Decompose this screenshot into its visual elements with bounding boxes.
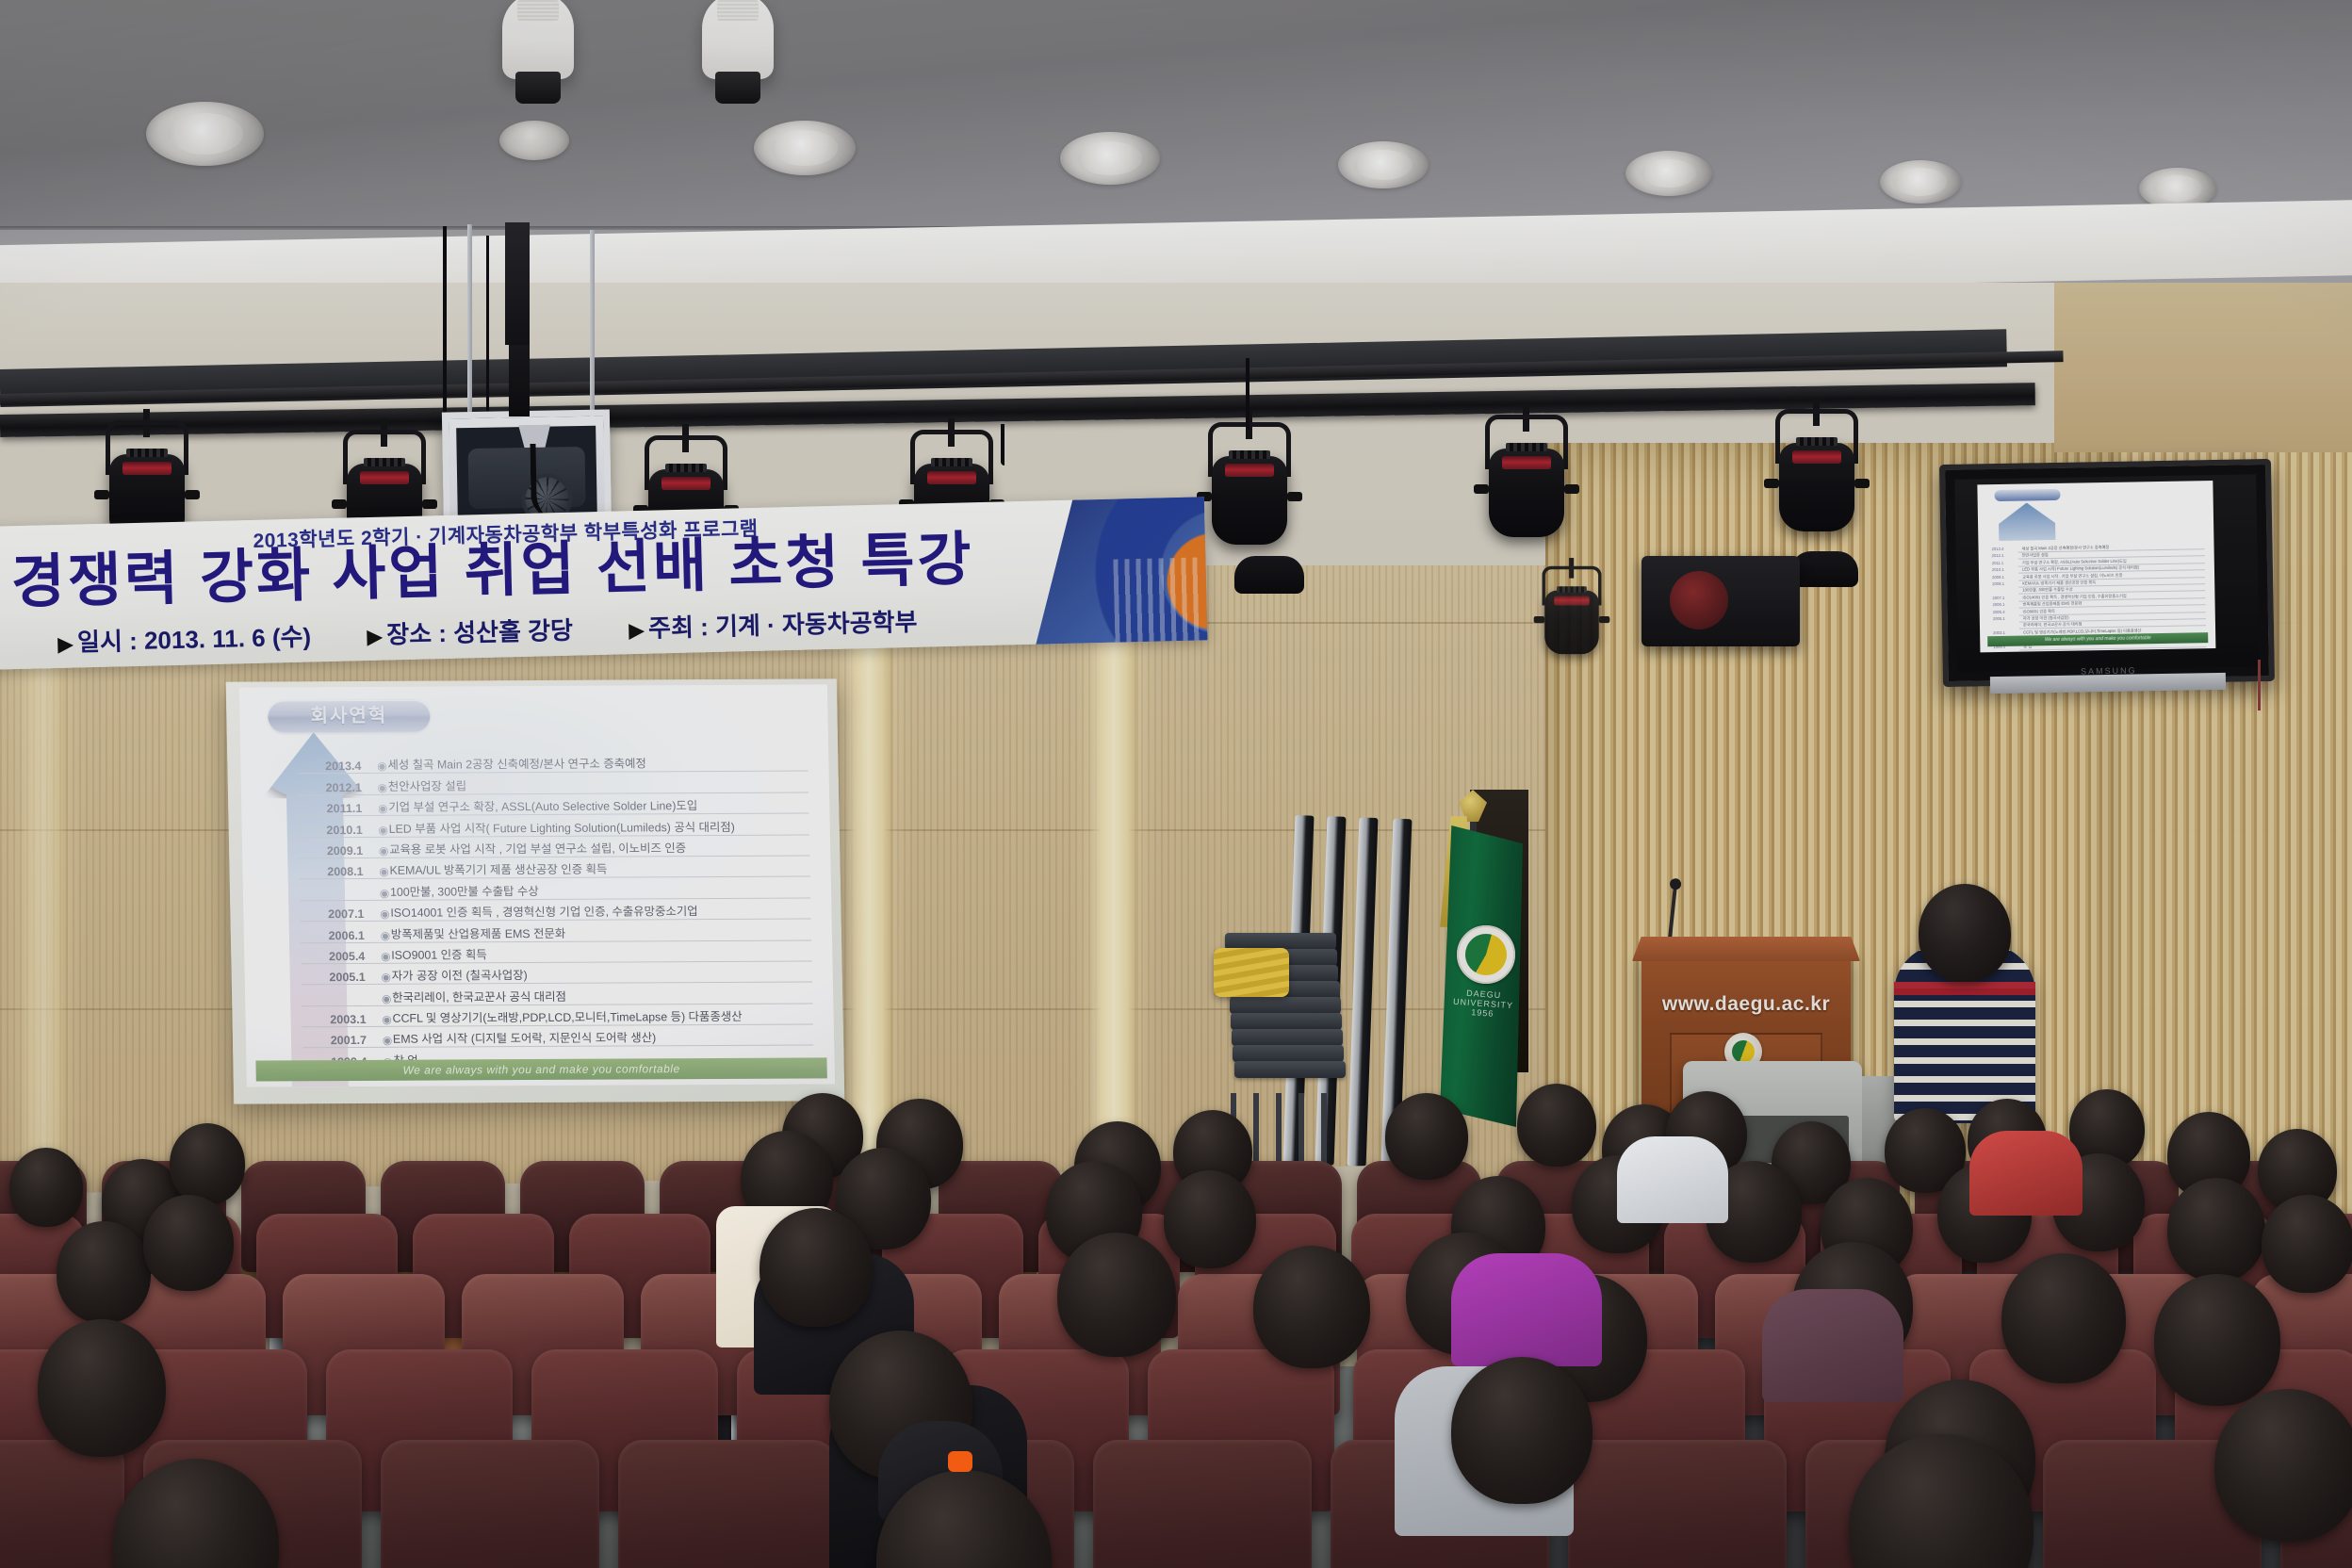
tv-slide-arrow [1999, 502, 2056, 541]
projection-screen: 회사연혁 2013.4◉세성 칠곡 Main 2공장 신축예정/본사 연구소 증… [226, 678, 845, 1103]
stacked-chair [1234, 1061, 1346, 1078]
audience-head [57, 1221, 151, 1323]
banner-headline: 업 경쟁력 강화 사업 취업 선배 초청 특강 [0, 529, 1065, 614]
slide-timeline-row: 2001.7◉EMS 사업 시작 (디지털 도어락, 지문인식 도어락 생산) [302, 1025, 813, 1049]
stacked-chair [1233, 1045, 1344, 1062]
tv-row-year: 2005.1 [1993, 616, 2005, 621]
slide-row-year: 2012.1 [298, 781, 377, 794]
ceiling-downlight [1060, 132, 1160, 185]
slide-row-year: 2010.1 [299, 823, 378, 836]
projector-mount-rod [467, 224, 472, 417]
power-cable [1001, 424, 1004, 465]
presenter-sweater-stripe [1894, 982, 2035, 995]
bullet-marker-icon: ▶ [367, 625, 384, 648]
bullet-dot-icon: ◉ [379, 907, 390, 921]
slide-row-year: 2005.4 [301, 950, 380, 963]
podium-url-label: www.daegu.ac.kr [1641, 993, 1851, 1016]
audience-head [2167, 1178, 2265, 1282]
ceiling-speaker [502, 0, 574, 79]
ceiling-speaker [702, 0, 774, 79]
tv-row-year: 2007.1 [1992, 596, 2004, 600]
stage-par-light-lower [1790, 551, 1858, 587]
slide-timeline-row: 2010.1◉LED 부품 사업 시작( Future Lighting Sol… [298, 814, 808, 838]
red-jacket [1969, 1131, 2082, 1216]
ceiling-downlight [1880, 160, 1961, 204]
slide-timeline-row: 2005.1◉자가 공장 이전 (칠곡사업장) [301, 961, 811, 985]
ceiling [0, 0, 2352, 236]
projector-cables [530, 443, 574, 519]
stage-par-light [1539, 581, 1604, 661]
slide-timeline-row: 2012.1◉천안사업장 설립 [298, 772, 808, 795]
tv-cable [2258, 660, 2261, 710]
stacked-chair [1231, 1013, 1342, 1030]
audience-head [1517, 1084, 1596, 1167]
slide-timeline-row: 2009.1◉교육용 로봇 사업 시작 , 기업 부설 연구소 설립, 이노비즈… [299, 835, 809, 858]
slide-row-year: 2001.7 [302, 1034, 382, 1047]
slide-row-text: 100만불, 300만불 수출탑 수상 [390, 880, 810, 899]
slide-timeline-row: 2011.1◉기업 부설 연구소 확장, ASSL(Auto Selective… [298, 792, 808, 816]
audience-head [2262, 1195, 2352, 1293]
slide-row-text: 기업 부설 연구소 확장, ASSL(Auto Selective Solder… [388, 796, 808, 815]
presentation-slide: 회사연혁 2013.4◉세성 칠곡 Main 2공장 신축예정/본사 연구소 증… [239, 684, 835, 1086]
audience-head [38, 1319, 166, 1457]
slide-row-text: ISO9001 인증 획득 [391, 943, 811, 962]
audience-head [2154, 1274, 2280, 1406]
audience-head [1451, 1357, 1592, 1504]
slide-row-year: 2007.1 [300, 907, 379, 921]
bullet-dot-icon: ◉ [380, 950, 391, 963]
slide-timeline-row: ◉한국리레이, 한국교꾼사 공식 대리점 [302, 983, 812, 1006]
power-cable [486, 236, 489, 415]
ceiling-downlight [1338, 141, 1429, 188]
presenter-head [1919, 884, 2011, 982]
stage-par-light [1204, 443, 1295, 554]
power-cable [1246, 358, 1249, 430]
purple-hoodie [1451, 1253, 1602, 1366]
auditorium-seat [618, 1440, 837, 1568]
audience-head [759, 1208, 873, 1327]
stage-par-light [1481, 435, 1572, 547]
tv-row-year: 2003.1 [1993, 630, 2005, 635]
speaker-grille [717, 0, 759, 21]
audience-head [1057, 1233, 1176, 1357]
bullet-dot-icon: ◉ [377, 802, 388, 815]
tv-slide-badge [1994, 489, 2060, 501]
slide-title-badge: 회사연혁 [268, 700, 431, 733]
stacked-chair [1232, 1029, 1343, 1046]
slide-timeline-row: 2013.4◉세성 칠곡 Main 2공장 신축예정/본사 연구소 증축예정 [297, 750, 808, 774]
slide-timeline-row: 2005.4◉ISO9001 인증 획득 [301, 940, 811, 964]
projector-column-top [505, 222, 530, 345]
banner-detail-host: 주최 [648, 613, 694, 643]
bullet-dot-icon: ◉ [379, 887, 390, 900]
bullet-dot-icon: ◉ [376, 759, 387, 773]
auditorium-seat [381, 1440, 599, 1568]
slide-row-text: KEMA/UL 방폭기기 제품 생산공장 인증 획득 [389, 859, 809, 878]
slide-row-text: 한국리레이, 한국교꾼사 공식 대리점 [392, 986, 812, 1004]
slide-row-text: 천안사업장 설립 [388, 775, 808, 793]
bullet-dot-icon: ◉ [380, 928, 391, 941]
slide-row-year: 2006.1 [301, 928, 380, 941]
audience-head [2214, 1389, 2352, 1542]
bullet-dot-icon: ◉ [378, 844, 389, 857]
projector-column [509, 335, 530, 416]
bullet-dot-icon: ◉ [378, 865, 389, 878]
slide-timeline-rows: 2013.4◉세성 칠곡 Main 2공장 신축예정/본사 연구소 증축예정20… [297, 750, 813, 1047]
slide-row-text: ISO14001 인증 획득 , 경영혁신형 기업 인증, 수출유망중소기업 [390, 902, 810, 921]
bullet-dot-icon: ◉ [378, 823, 389, 836]
bullet-dot-icon: ◉ [381, 1013, 392, 1026]
speaker-grille [517, 0, 559, 21]
slide-timeline-row: ◉100만불, 300만불 수출탑 수상 [300, 877, 810, 901]
tv-row-year: 2010.1 [1992, 567, 2004, 572]
folded-yellow-cloth [1214, 948, 1289, 997]
tv-row-year: 2012.1 [1992, 553, 2004, 558]
audience-head [1164, 1170, 1256, 1268]
auditorium-photo: 2013학년도 2학기 · 기계자동차공학부 학부특성화 프로그램 업 경쟁력 … [0, 0, 2352, 1568]
slide-timeline-row: 2003.1◉CCFL 및 영상기기(노래방,PDP,LCD,모니터,TimeL… [302, 1004, 812, 1027]
slide-row-text: 자가 공장 이전 (칠곡사업장) [392, 965, 812, 984]
wall-panel-upper-right [2054, 283, 2352, 452]
auditorium-seat [1568, 1440, 1787, 1568]
slide-row-year: 2009.1 [299, 844, 378, 857]
projector-mount-rod [590, 230, 595, 418]
flag-emblem-ring [1457, 925, 1515, 984]
tv-screen: 2013.4세성 칠곡 Main 2공장 신축예정/본사 연구소 증축예정201… [1977, 481, 2215, 652]
bullet-marker-icon: ▶ [57, 632, 74, 656]
slide-row-year: 2008.1 [299, 865, 378, 878]
white-shirt [1617, 1136, 1728, 1223]
bullet-dot-icon: ◉ [381, 971, 392, 984]
audience-head [1253, 1246, 1370, 1368]
bullet-dot-icon: ◉ [377, 781, 388, 794]
tv-row-year: 2006.1 [1993, 602, 2005, 607]
slide-row-text: 방폭제품및 산업용제품 EMS 전문화 [391, 923, 811, 941]
audience-head [2001, 1253, 2126, 1383]
stage-par-light [1772, 430, 1862, 541]
slide-timeline-row: 2006.1◉방폭제품및 산업용제품 EMS 전문화 [301, 920, 811, 943]
ceiling-downlight [1625, 151, 1712, 196]
slide-row-text: 교육용 로봇 사업 시작 , 기업 부설 연구소 설립, 이노비즈 인증 [389, 838, 809, 857]
audience-head [143, 1195, 234, 1291]
slide-timeline-row: 2007.1◉ISO14001 인증 획득 , 경영혁신형 기업 인증, 수출유… [300, 898, 810, 922]
power-cable [443, 226, 447, 415]
banner-detail-date: 일시 [77, 627, 123, 656]
banner-detail-place: 장소 [386, 619, 433, 648]
slide-row-text: EMS 사업 시작 (디지털 도어락, 지문인식 도어락 생산) [393, 1028, 813, 1047]
slide-row-year: 2011.1 [298, 802, 377, 815]
maroon-jacket [1762, 1289, 1903, 1402]
audience-head [1385, 1093, 1468, 1180]
tv-row-year: 2005.4 [1993, 609, 2005, 613]
bullet-dot-icon: ◉ [381, 991, 392, 1004]
audience-head [9, 1148, 83, 1227]
audience-head [170, 1123, 245, 1204]
cap-logo-icon [948, 1451, 972, 1472]
ceiling-downlight [499, 121, 569, 160]
wall-speaker-cone [1670, 571, 1728, 629]
slide-row-year: 2003.1 [302, 1013, 381, 1026]
tv-row-year: 2009.1 [1992, 574, 2004, 579]
tv-row-year: 2011.1 [1992, 561, 2004, 565]
slide-row-text: 세성 칠곡 Main 2공장 신축예정/본사 연구소 증축예정 [387, 754, 808, 773]
slide-row-year: 2005.1 [302, 971, 381, 984]
wall-mounted-tv: 2013.4세성 칠곡 Main 2공장 신축예정/본사 연구소 증축예정201… [1939, 459, 2275, 687]
slide-row-text: LED 부품 사업 시작( Future Lighting Solution(L… [389, 817, 809, 836]
tv-row-year: 2013.4 [1991, 547, 2003, 551]
ceiling-downlight [754, 121, 856, 175]
auditorium-seat [0, 1440, 124, 1568]
bullet-dot-icon: ◉ [382, 1034, 393, 1047]
stacked-chair [1230, 997, 1341, 1014]
slide-row-year: 2013.4 [297, 759, 376, 773]
podium-top [1632, 937, 1860, 961]
ceiling-downlight [146, 102, 264, 166]
stage-par-light-lower [1234, 556, 1304, 594]
slide-row-text: CCFL 및 영상기기(노래방,PDP,LCD,모니터,TimeLapse 등)… [392, 1007, 812, 1026]
tv-row-year: 2008.1 [1992, 581, 2004, 586]
slide-footer: We are always with you and make you comf… [255, 1057, 826, 1081]
bullet-marker-icon: ▶ [629, 618, 645, 642]
auditorium-seat [1093, 1440, 1312, 1568]
slide-timeline-row: 2008.1◉KEMA/UL 방폭기기 제품 생산공장 인증 획득 [299, 856, 809, 879]
